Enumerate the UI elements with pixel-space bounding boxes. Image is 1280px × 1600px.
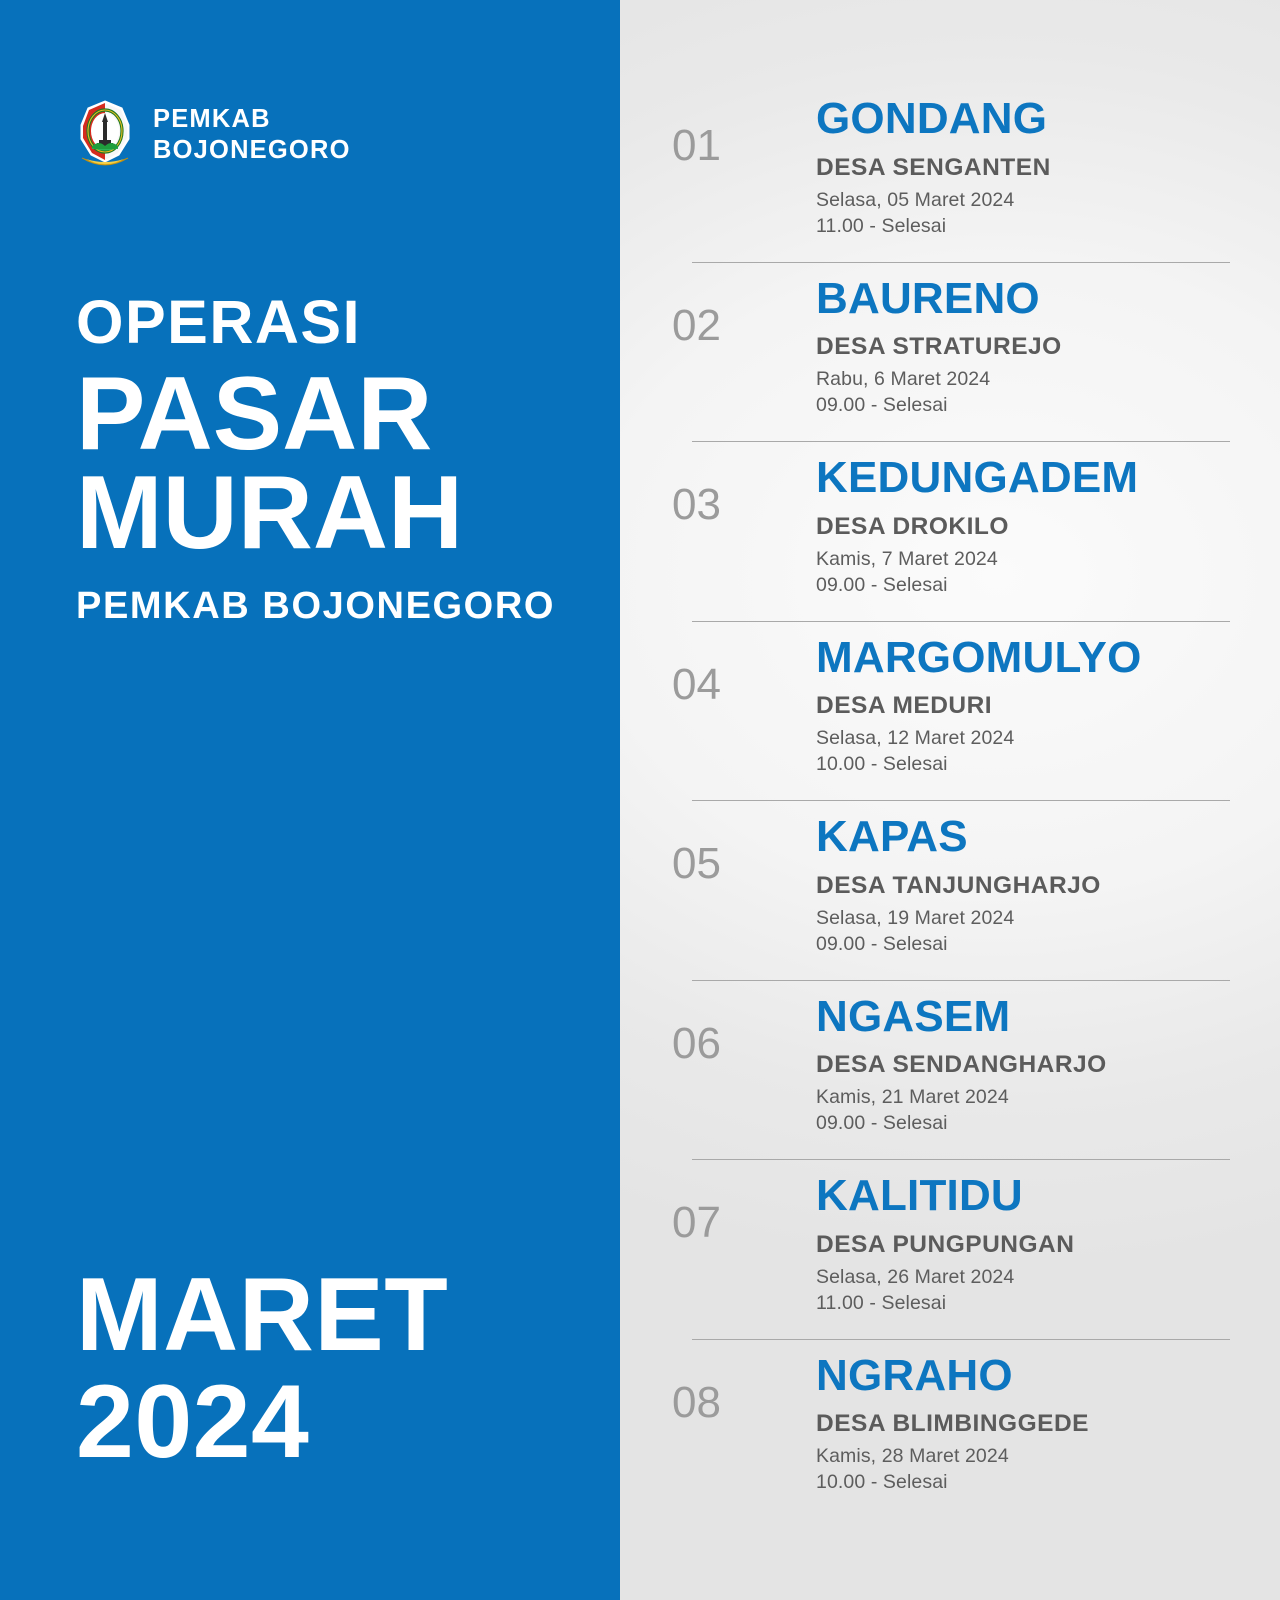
- bojonegoro-regency-emblem-icon: [74, 98, 136, 172]
- schedule-entry: 02 BAURENO DESA STRATUREJO Rabu, 6 Maret…: [672, 262, 1262, 442]
- entry-body: NGASEM DESA SENDANGHARJO Kamis, 21 Maret…: [800, 994, 1262, 1138]
- entry-date: Selasa, 26 Maret 2024: [816, 1265, 1262, 1291]
- schedule-entry: 06 NGASEM DESA SENDANGHARJO Kamis, 21 Ma…: [672, 980, 1262, 1160]
- brand-name: PEMKAB BOJONEGORO: [153, 104, 351, 166]
- entry-date: Selasa, 19 Maret 2024: [816, 906, 1262, 932]
- entry-time: 11.00 - Selesai: [816, 1291, 1262, 1317]
- right-schedule-panel: 01 GONDANG DESA SENGANTEN Selasa, 05 Mar…: [620, 0, 1280, 1600]
- entry-desa: DESA TANJUNGHARJO: [816, 872, 1262, 900]
- brand-lockup: PEMKAB BOJONEGORO: [74, 98, 351, 172]
- entry-kecamatan: KEDUNGADEM: [816, 455, 1262, 502]
- entry-date: Selasa, 05 Maret 2024: [816, 188, 1262, 214]
- entry-kecamatan: BAURENO: [816, 276, 1262, 323]
- entry-body: KEDUNGADEM DESA DROKILO Kamis, 7 Maret 2…: [800, 455, 1262, 599]
- entry-kecamatan: NGRAHO: [816, 1353, 1262, 1400]
- entry-body: MARGOMULYO DESA MEDURI Selasa, 12 Maret …: [800, 635, 1262, 779]
- entry-body: NGRAHO DESA BLIMBINGGEDE Kamis, 28 Maret…: [800, 1353, 1262, 1497]
- entry-date: Kamis, 28 Maret 2024: [816, 1444, 1262, 1470]
- poster-root: PEMKAB BOJONEGORO OPERASI PASAR MURAH PE…: [0, 0, 1280, 1600]
- entry-number: 06: [672, 994, 800, 1066]
- entry-time: 10.00 - Selesai: [816, 1470, 1262, 1496]
- entry-time: 09.00 - Selesai: [816, 932, 1262, 958]
- month-year: 2024: [76, 1369, 448, 1476]
- entry-body: KALITIDU DESA PUNGPUNGAN Selasa, 26 Mare…: [800, 1173, 1262, 1317]
- left-blue-panel: PEMKAB BOJONEGORO OPERASI PASAR MURAH PE…: [0, 0, 620, 1600]
- entry-number: 05: [672, 814, 800, 886]
- entry-body: GONDANG DESA SENGANTEN Selasa, 05 Maret …: [800, 96, 1262, 240]
- month-name: MARET: [76, 1262, 448, 1369]
- entry-desa: DESA MEDURI: [816, 692, 1262, 720]
- entry-time: 09.00 - Selesai: [816, 1111, 1262, 1137]
- entry-time: 11.00 - Selesai: [816, 214, 1262, 240]
- entry-time: 09.00 - Selesai: [816, 393, 1262, 419]
- entry-number: 03: [672, 455, 800, 527]
- entry-desa: DESA DROKILO: [816, 513, 1262, 541]
- headline-line-2: PASAR: [76, 365, 555, 464]
- entry-kecamatan: KALITIDU: [816, 1173, 1262, 1220]
- entry-kecamatan: KAPAS: [816, 814, 1262, 861]
- entry-desa: DESA BLIMBINGGEDE: [816, 1410, 1262, 1438]
- entry-desa: DESA STRATUREJO: [816, 333, 1262, 361]
- entry-number: 02: [672, 276, 800, 348]
- entry-body: KAPAS DESA TANJUNGHARJO Selasa, 19 Maret…: [800, 814, 1262, 958]
- headline-line-1: OPERASI: [76, 292, 555, 353]
- schedule-entry: 01 GONDANG DESA SENGANTEN Selasa, 05 Mar…: [672, 82, 1262, 262]
- entry-date: Kamis, 21 Maret 2024: [816, 1085, 1262, 1111]
- entry-number: 07: [672, 1173, 800, 1245]
- entry-time: 10.00 - Selesai: [816, 752, 1262, 778]
- schedule-entry: 04 MARGOMULYO DESA MEDURI Selasa, 12 Mar…: [672, 621, 1262, 801]
- entry-kecamatan: MARGOMULYO: [816, 635, 1262, 682]
- entry-kecamatan: GONDANG: [816, 96, 1262, 143]
- entry-body: BAURENO DESA STRATUREJO Rabu, 6 Maret 20…: [800, 276, 1262, 420]
- schedule-entry: 05 KAPAS DESA TANJUNGHARJO Selasa, 19 Ma…: [672, 800, 1262, 980]
- schedule-entry: 08 NGRAHO DESA BLIMBINGGEDE Kamis, 28 Ma…: [672, 1339, 1262, 1519]
- schedule-list: 01 GONDANG DESA SENGANTEN Selasa, 05 Mar…: [672, 82, 1262, 1518]
- entry-number: 04: [672, 635, 800, 707]
- entry-desa: DESA PUNGPUNGAN: [816, 1231, 1262, 1259]
- headline-block: OPERASI PASAR MURAH PEMKAB BOJONEGORO: [76, 292, 555, 625]
- headline-line-3: MURAH: [76, 464, 555, 563]
- month-block: MARET 2024: [76, 1262, 448, 1476]
- entry-desa: DESA SENDANGHARJO: [816, 1051, 1262, 1079]
- entry-desa: DESA SENGANTEN: [816, 154, 1262, 182]
- entry-number: 01: [672, 96, 800, 168]
- schedule-entry: 03 KEDUNGADEM DESA DROKILO Kamis, 7 Mare…: [672, 441, 1262, 621]
- schedule-entry: 07 KALITIDU DESA PUNGPUNGAN Selasa, 26 M…: [672, 1159, 1262, 1339]
- headline-subtitle: PEMKAB BOJONEGORO: [76, 587, 555, 625]
- entry-date: Kamis, 7 Maret 2024: [816, 547, 1262, 573]
- entry-date: Selasa, 12 Maret 2024: [816, 726, 1262, 752]
- entry-time: 09.00 - Selesai: [816, 573, 1262, 599]
- entry-date: Rabu, 6 Maret 2024: [816, 367, 1262, 393]
- entry-number: 08: [672, 1353, 800, 1425]
- entry-kecamatan: NGASEM: [816, 994, 1262, 1041]
